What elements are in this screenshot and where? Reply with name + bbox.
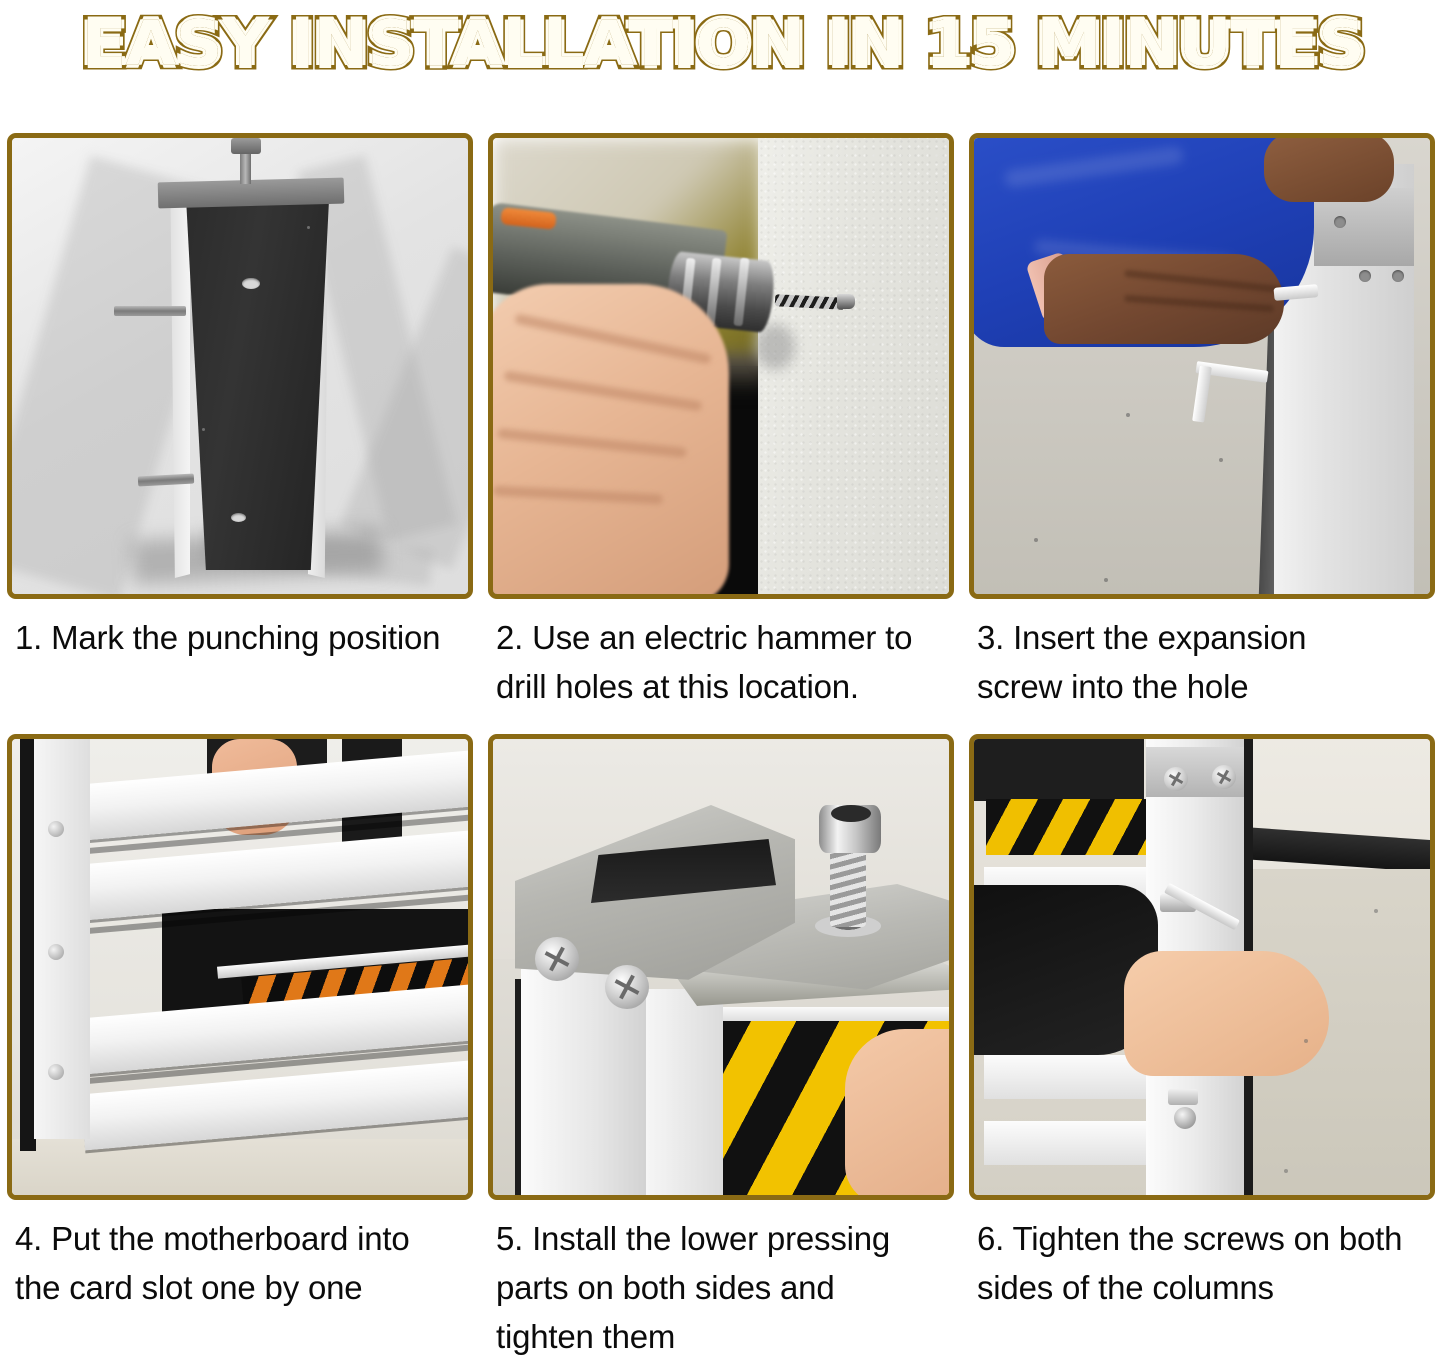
photo-insert-boards <box>12 739 468 1195</box>
step-1-caption: 1. Mark the punching position <box>7 599 477 723</box>
step-6: 6. Tighten the screws on both sides of t… <box>969 734 1439 1361</box>
photo-mark-punching-position <box>12 138 468 594</box>
photo-drill-holes <box>493 138 949 594</box>
caption-line: the card slot one by one <box>15 1263 469 1312</box>
title-wrapper: EASY INSTALLATION IN 15 MINUTES EASY INS… <box>118 13 1328 75</box>
caption-line: 5. Install the lower pressing <box>496 1214 950 1263</box>
step-4-caption: 4. Put the motherboard into the card slo… <box>7 1200 477 1324</box>
step-3-photo-frame <box>969 133 1435 599</box>
installation-infographic: EASY INSTALLATION IN 15 MINUTES EASY INS… <box>0 0 1445 1352</box>
step-6-caption: 6. Tighten the screws on both sides of t… <box>969 1200 1439 1324</box>
caption-line: 1. Mark the punching position <box>15 613 469 662</box>
photo-insert-expansion-screw <box>974 138 1430 594</box>
step-1-photo-frame <box>7 133 473 599</box>
step-2-photo-frame <box>488 133 954 599</box>
page-title-overlay: EASY INSTALLATION IN 15 MINUTES <box>81 13 1364 75</box>
step-2: 2. Use an electric hammer to drill holes… <box>488 133 958 723</box>
steps-grid: 1. Mark the punching position <box>7 133 1439 1361</box>
step-2-caption: 2. Use an electric hammer to drill holes… <box>488 599 958 723</box>
step-5: 5. Install the lower pressing parts on b… <box>488 734 958 1361</box>
step-3: 3. Insert the expansion screw into the h… <box>969 133 1439 723</box>
caption-line: 4. Put the motherboard into <box>15 1214 469 1263</box>
caption-line: 2. Use an electric hammer to <box>496 613 950 662</box>
caption-line: 3. Insert the expansion <box>977 613 1431 662</box>
step-4-photo-frame <box>7 734 473 1200</box>
photo-tighten-screws <box>974 739 1430 1195</box>
caption-line: sides of the columns <box>977 1263 1431 1312</box>
step-3-caption: 3. Insert the expansion screw into the h… <box>969 599 1439 723</box>
title-bar: EASY INSTALLATION IN 15 MINUTES EASY INS… <box>0 0 1445 88</box>
caption-line: 6. Tighten the screws on both <box>977 1214 1431 1263</box>
step-5-caption: 5. Install the lower pressing parts on b… <box>488 1200 958 1361</box>
step-6-photo-frame <box>969 734 1435 1200</box>
caption-line: tighten them <box>496 1312 950 1361</box>
step-5-photo-frame <box>488 734 954 1200</box>
caption-line: parts on both sides and <box>496 1263 950 1312</box>
caption-line: drill holes at this location. <box>496 662 950 711</box>
step-1: 1. Mark the punching position <box>7 133 477 723</box>
caption-line: screw into the hole <box>977 662 1431 711</box>
photo-lower-pressing-parts <box>493 739 949 1195</box>
step-4: 4. Put the motherboard into the card slo… <box>7 734 477 1361</box>
